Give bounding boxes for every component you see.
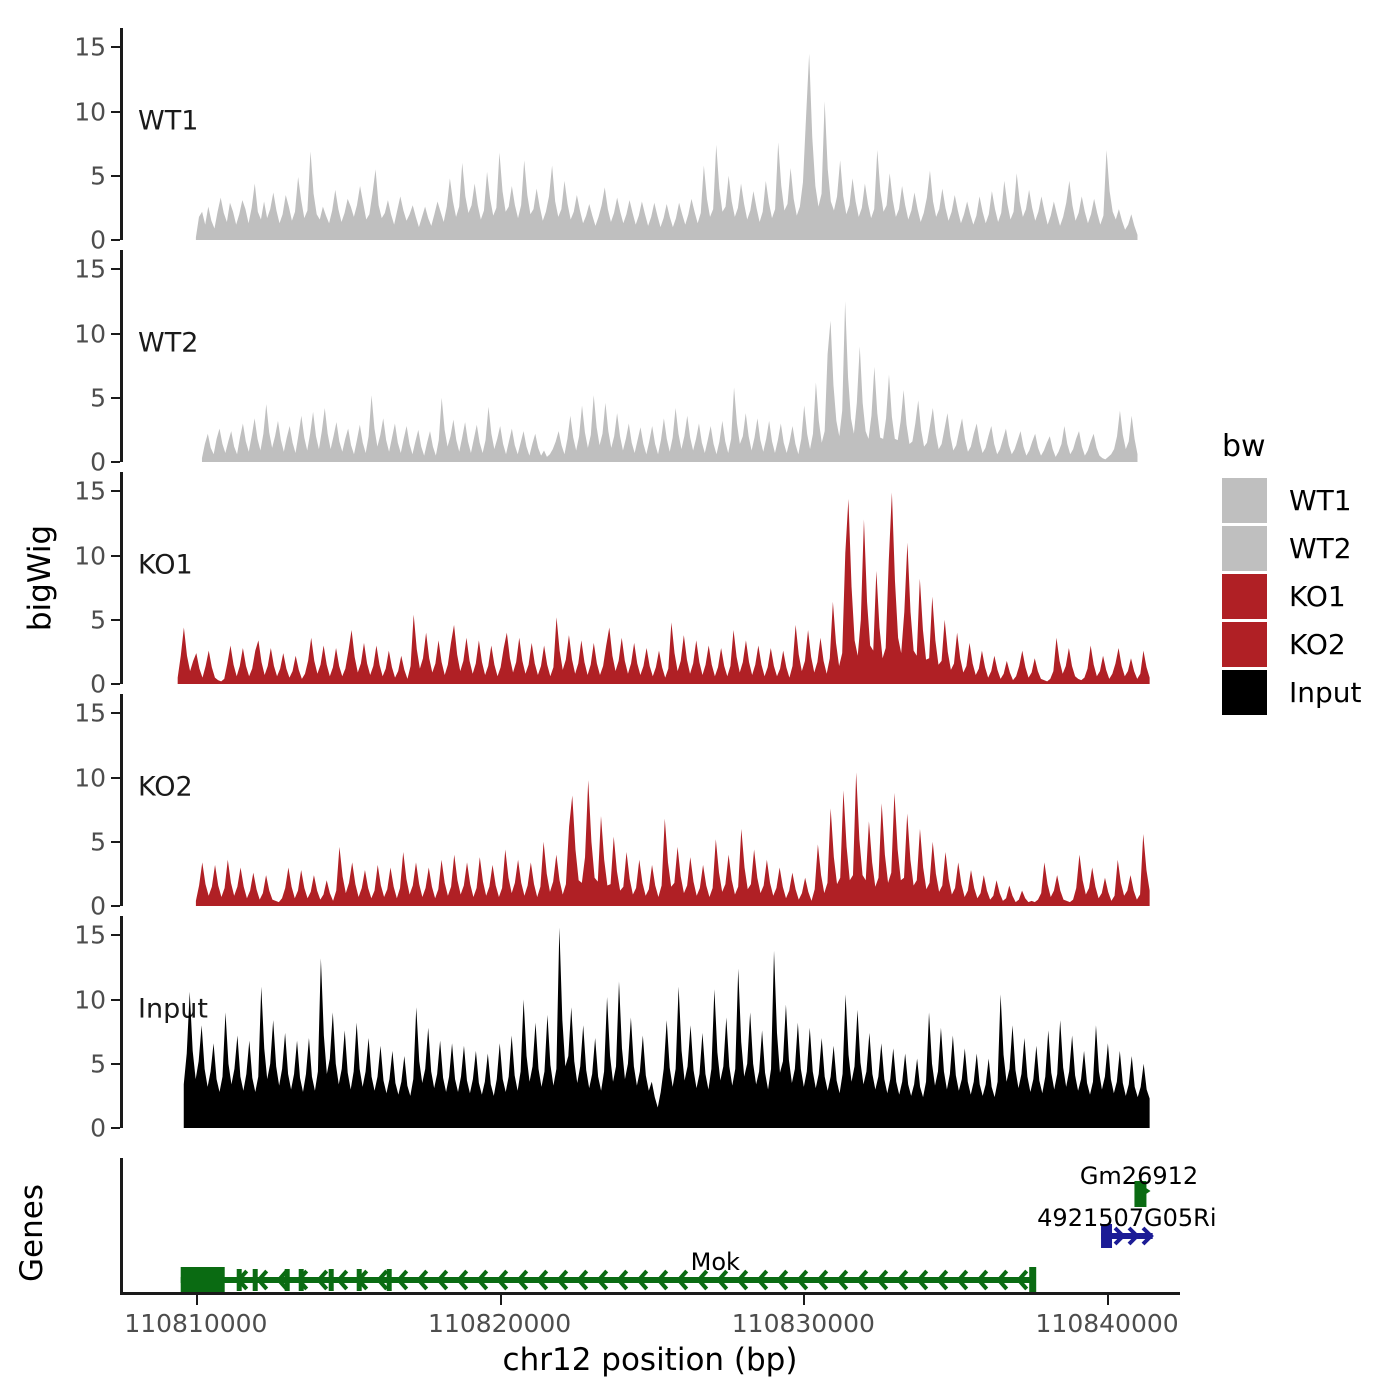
legend-item-ko1[interactable]: KO1: [1222, 572, 1397, 620]
y-tick-label-ko1-10: 10: [74, 541, 106, 570]
y-tick-ko1-0: [111, 683, 120, 685]
plot-area-ko1: [123, 472, 1180, 684]
y-tick-wt2-0: [111, 461, 120, 463]
legend-label-wt1: WT1: [1289, 484, 1352, 517]
y-tick-input-15: [111, 934, 120, 936]
x-axis-line: [120, 1292, 1180, 1295]
y-tick-label-ko2-5: 5: [90, 827, 106, 856]
x-tick-110830000: [803, 1295, 805, 1305]
x-tick-label-110830000: 110830000: [732, 1309, 875, 1338]
y-tick-wt1-0: [111, 239, 120, 241]
y-tick-wt2-5: [111, 397, 120, 399]
genes-axis-title: Genes: [14, 1153, 50, 1313]
y-tick-input-10: [111, 999, 120, 1001]
area-path-input: [184, 928, 1150, 1128]
x-tick-label-110820000: 110820000: [428, 1309, 571, 1338]
genes-plot-area: [123, 1158, 1180, 1292]
y-tick-label-wt2-15: 15: [74, 255, 106, 284]
y-tick-ko2-5: [111, 841, 120, 843]
area-chart-wt2: [123, 250, 1180, 462]
x-tick-110810000: [196, 1295, 198, 1305]
gene-exon: [1029, 1267, 1036, 1292]
gene-exon: [329, 1269, 334, 1291]
area-chart-ko2: [123, 694, 1180, 906]
y-tick-label-wt1-5: 5: [90, 161, 106, 190]
y-tick-label-wt1-10: 10: [74, 97, 106, 126]
x-tick-110820000: [500, 1295, 502, 1305]
y-tick-label-ko1-0: 0: [90, 670, 106, 699]
legend-title: bw: [1222, 432, 1397, 462]
gene-body: [181, 1277, 1034, 1283]
y-tick-label-ko1-5: 5: [90, 605, 106, 634]
area-path-wt2: [202, 301, 1138, 462]
y-tick-label-input-5: 5: [90, 1049, 106, 1078]
y-tick-label-ko2-10: 10: [74, 763, 106, 792]
y-tick-label-input-15: 15: [74, 921, 106, 950]
gene-label-mok: Mok: [691, 1248, 740, 1276]
y-tick-label-ko1-15: 15: [74, 477, 106, 506]
y-tick-wt2-10: [111, 333, 120, 335]
genes-panel: Gm269124921507G05RiMok: [120, 1158, 1180, 1292]
y-tick-label-wt1-15: 15: [74, 33, 106, 62]
plot-area-input: [123, 916, 1180, 1128]
y-tick-wt1-10: [111, 111, 120, 113]
track-panel-ko2: 051015KO2: [120, 694, 1180, 906]
legend-label-ko2: KO2: [1289, 628, 1346, 661]
y-tick-ko2-10: [111, 777, 120, 779]
gene-feature-mok[interactable]: [181, 1267, 1036, 1292]
y-tick-wt2-15: [111, 268, 120, 270]
area-path-wt1: [196, 54, 1138, 240]
plot-area-wt1: [123, 28, 1180, 240]
y-tick-wt1-15: [111, 46, 120, 48]
legend-item-wt2[interactable]: WT2: [1222, 524, 1397, 572]
legend-label-ko1: KO1: [1289, 580, 1346, 613]
area-chart-wt1: [123, 28, 1180, 240]
legend-swatch-wt1: [1222, 478, 1267, 523]
legend-item-input[interactable]: Input: [1222, 668, 1397, 716]
area-chart-ko1: [123, 472, 1180, 684]
y-tick-input-0: [111, 1127, 120, 1129]
x-tick-label-110810000: 110810000: [124, 1309, 267, 1338]
y-tick-ko2-0: [111, 905, 120, 907]
y-tick-label-wt2-0: 0: [90, 448, 106, 477]
area-path-ko1: [178, 493, 1150, 684]
track-panel-input: 051015Input: [120, 916, 1180, 1128]
track-panel-ko1: 051015KO1: [120, 472, 1180, 684]
legend-swatch-wt2: [1222, 526, 1267, 571]
legend-swatch-input: [1222, 670, 1267, 715]
y-tick-label-ko2-15: 15: [74, 699, 106, 728]
y-tick-label-ko2-0: 0: [90, 892, 106, 921]
x-axis-title: chr12 position (bp): [120, 1342, 1180, 1378]
gene-label-4921507g05ri: 4921507G05Ri: [1037, 1204, 1216, 1232]
y-tick-ko1-10: [111, 555, 120, 557]
legend-swatch-ko2: [1222, 622, 1267, 667]
legend-item-wt1[interactable]: WT1: [1222, 476, 1397, 524]
x-tick-label-110840000: 110840000: [1036, 1309, 1179, 1338]
y-tick-ko1-15: [111, 490, 120, 492]
y-tick-wt1-5: [111, 175, 120, 177]
legend: bw WT1WT2KO1KO2Input: [1222, 432, 1397, 716]
y-tick-ko2-15: [111, 712, 120, 714]
legend-label-wt2: WT2: [1289, 532, 1352, 565]
track-panel-wt1: 051015WT1: [120, 28, 1180, 240]
bigwig-axis-title: bigWig: [22, 478, 58, 678]
legend-label-input: Input: [1289, 676, 1362, 709]
y-tick-label-wt2-5: 5: [90, 383, 106, 412]
y-tick-label-wt2-10: 10: [74, 319, 106, 348]
area-path-ko2: [196, 772, 1150, 906]
y-tick-label-input-0: 0: [90, 1114, 106, 1143]
area-chart-input: [123, 916, 1180, 1128]
plot-area-ko2: [123, 694, 1180, 906]
y-tick-ko1-5: [111, 619, 120, 621]
plot-area-wt2: [123, 250, 1180, 462]
x-tick-110840000: [1107, 1295, 1109, 1305]
y-tick-label-input-10: 10: [74, 985, 106, 1014]
gene-label-gm26912: Gm26912: [1080, 1162, 1198, 1190]
y-tick-label-wt1-0: 0: [90, 226, 106, 255]
track-panel-wt2: 051015WT2: [120, 250, 1180, 462]
legend-swatch-ko1: [1222, 574, 1267, 619]
genes-svg: [123, 1158, 1180, 1292]
y-tick-input-5: [111, 1063, 120, 1065]
legend-items: WT1WT2KO1KO2Input: [1222, 476, 1397, 716]
legend-item-ko2[interactable]: KO2: [1222, 620, 1397, 668]
gene-exon: [181, 1267, 225, 1292]
